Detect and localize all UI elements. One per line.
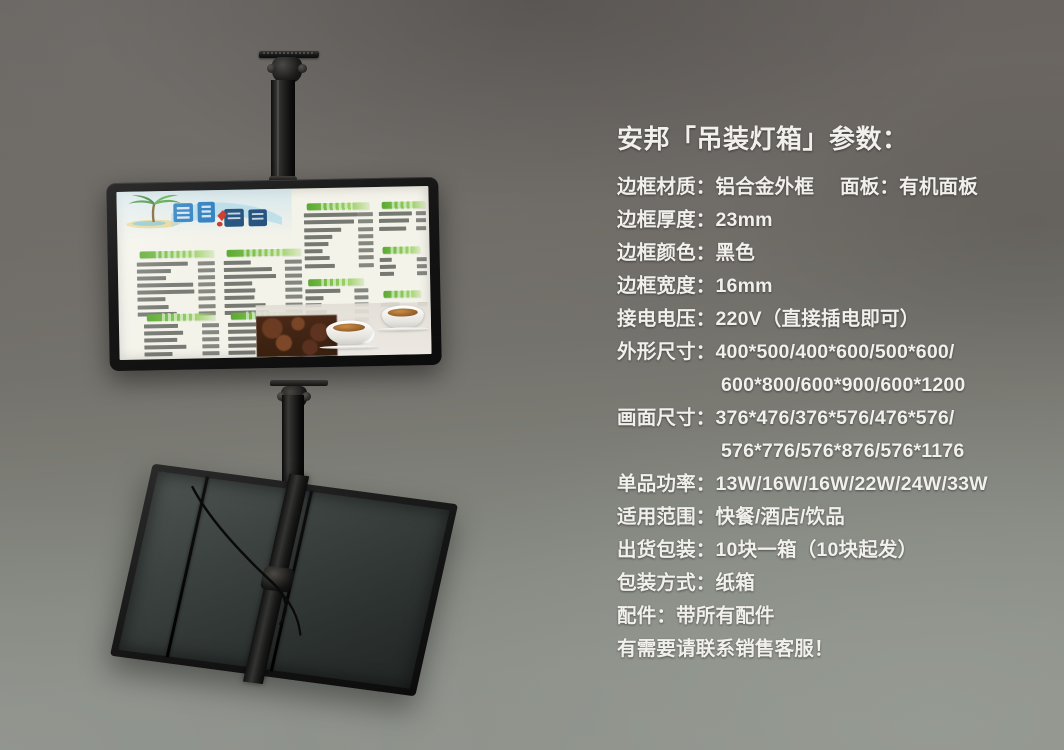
spec-label: 边框颜色： bbox=[617, 242, 716, 264]
spec-line-outer-size-cont: 600*800/600*900/600*1200 bbox=[617, 369, 1047, 402]
menu-title-art bbox=[169, 193, 285, 237]
menu-section-header bbox=[308, 278, 364, 286]
menu-hero-art bbox=[116, 189, 292, 249]
spec-value: 16mm bbox=[716, 275, 773, 297]
spec-value: 快餐/酒店/饮品 bbox=[716, 506, 845, 528]
spec-label: 单品功率： bbox=[617, 473, 716, 495]
menu-section-rows bbox=[304, 212, 374, 271]
spec-label: 边框材质： bbox=[617, 176, 716, 198]
spec-line-accessories: 配件：带所有配件 bbox=[617, 600, 1047, 633]
spec-label: 包装方式： bbox=[617, 572, 716, 594]
spec-value: 10块一箱（10块起发） bbox=[716, 539, 918, 561]
spec-value: 13W/16W/16W/22W/24W/33W bbox=[716, 473, 988, 495]
spec-label: 边框厚度： bbox=[617, 209, 716, 231]
spec-line-frame-color: 边框颜色：黑色 bbox=[617, 237, 1047, 270]
spec-value: 纸箱 bbox=[716, 572, 755, 594]
spec-line-packaging: 包装方式：纸箱 bbox=[617, 567, 1047, 600]
spec-text-block: 安邦「吊装灯箱」参数： 边框材质：铝合金外框面板：有机面板 边框厚度：23mm … bbox=[617, 124, 1047, 666]
menu-section-rows bbox=[144, 323, 220, 360]
spec-label: 适用范围： bbox=[617, 506, 716, 528]
menu-section-header bbox=[139, 251, 214, 259]
menu-section-header bbox=[382, 201, 426, 209]
spec-value: 576*776/576*876/576*1176 bbox=[721, 440, 964, 462]
spec-label: 画面尺寸： bbox=[617, 407, 716, 429]
product-photo-scene: 安邦「吊装灯箱」参数： 边框材质：铝合金外框面板：有机面板 边框厚度：23mm … bbox=[0, 0, 1064, 750]
spec-label: 出货包装： bbox=[617, 539, 716, 561]
spec-title: 安邦「吊装灯箱」参数： bbox=[617, 124, 1047, 155]
spec-value: 376*476/376*576/476*576/ bbox=[716, 407, 955, 429]
spec-line-application: 适用范围：快餐/酒店/饮品 bbox=[617, 501, 1047, 534]
menu-section-header bbox=[227, 249, 302, 257]
spec-line-picture-size: 画面尺寸：376*476/376*576/476*576/ bbox=[617, 402, 1047, 435]
spec-line-shipping-pack: 出货包装：10块一箱（10块起发） bbox=[617, 534, 1047, 567]
menu-section-rows bbox=[380, 257, 427, 279]
menu-section-header bbox=[147, 313, 216, 321]
coffee-cup-icon bbox=[382, 305, 424, 329]
spec-value: 带所有配件 bbox=[676, 605, 775, 627]
menu-section-header bbox=[307, 202, 370, 210]
spec-line-voltage: 接电电压：220V（直接插电即可） bbox=[617, 303, 1047, 336]
spec-label: 接电电压： bbox=[617, 308, 716, 330]
spec-label: 外形尺寸： bbox=[617, 341, 716, 363]
spec-value: 220V（直接插电即可） bbox=[716, 308, 920, 330]
joint-knob-right-icon bbox=[298, 64, 307, 73]
spec-line-frame-width: 边框宽度：16mm bbox=[617, 270, 1047, 303]
coffee-beans-image bbox=[256, 315, 337, 357]
spec-line-frame-thickness: 边框厚度：23mm bbox=[617, 204, 1047, 237]
spec-line-contact-callout: 有需要请联系销售客服！ bbox=[617, 633, 1047, 666]
lightbox-front bbox=[106, 177, 442, 371]
menu-panel bbox=[116, 186, 431, 360]
menu-section-rows bbox=[136, 261, 215, 320]
spec-value: 600*800/600*900/600*1200 bbox=[721, 374, 965, 396]
menu-section-header bbox=[383, 247, 421, 255]
spec-line-picture-size-cont: 576*776/576*876/576*1176 bbox=[617, 435, 1047, 468]
spec-value: 23mm bbox=[716, 209, 773, 231]
spec-value: 有需要请联系销售客服！ bbox=[617, 638, 834, 660]
spec-label: 边框宽度： bbox=[617, 275, 716, 297]
joint-knob-left-icon bbox=[267, 64, 276, 73]
spec-label: 配件： bbox=[617, 605, 676, 627]
spec-value: 铝合金外框 bbox=[716, 176, 815, 198]
drop-pole-upper bbox=[271, 80, 295, 188]
spec-line-outer-size: 外形尺寸：400*500/400*600/500*600/ bbox=[617, 336, 1047, 369]
coffee-photo bbox=[256, 302, 432, 357]
menu-section-rows bbox=[379, 211, 426, 233]
power-cable bbox=[110, 464, 458, 697]
coffee-saucer-icon bbox=[377, 327, 429, 331]
spec-line-power: 单品功率：13W/16W/16W/22W/24W/33W bbox=[617, 468, 1047, 501]
lightbox-rear-panel bbox=[110, 464, 458, 697]
coffee-cup-icon bbox=[326, 320, 372, 345]
spec-value: 400*500/400*600/500*600/ bbox=[716, 341, 955, 363]
menu-section-header bbox=[384, 290, 422, 298]
spec-line-frame-material: 边框材质：铝合金外框面板：有机面板 bbox=[617, 171, 1047, 204]
spec-value-2: 有机面板 bbox=[899, 176, 978, 198]
spec-value: 黑色 bbox=[716, 242, 755, 264]
spec-label-2: 面板： bbox=[840, 176, 899, 198]
